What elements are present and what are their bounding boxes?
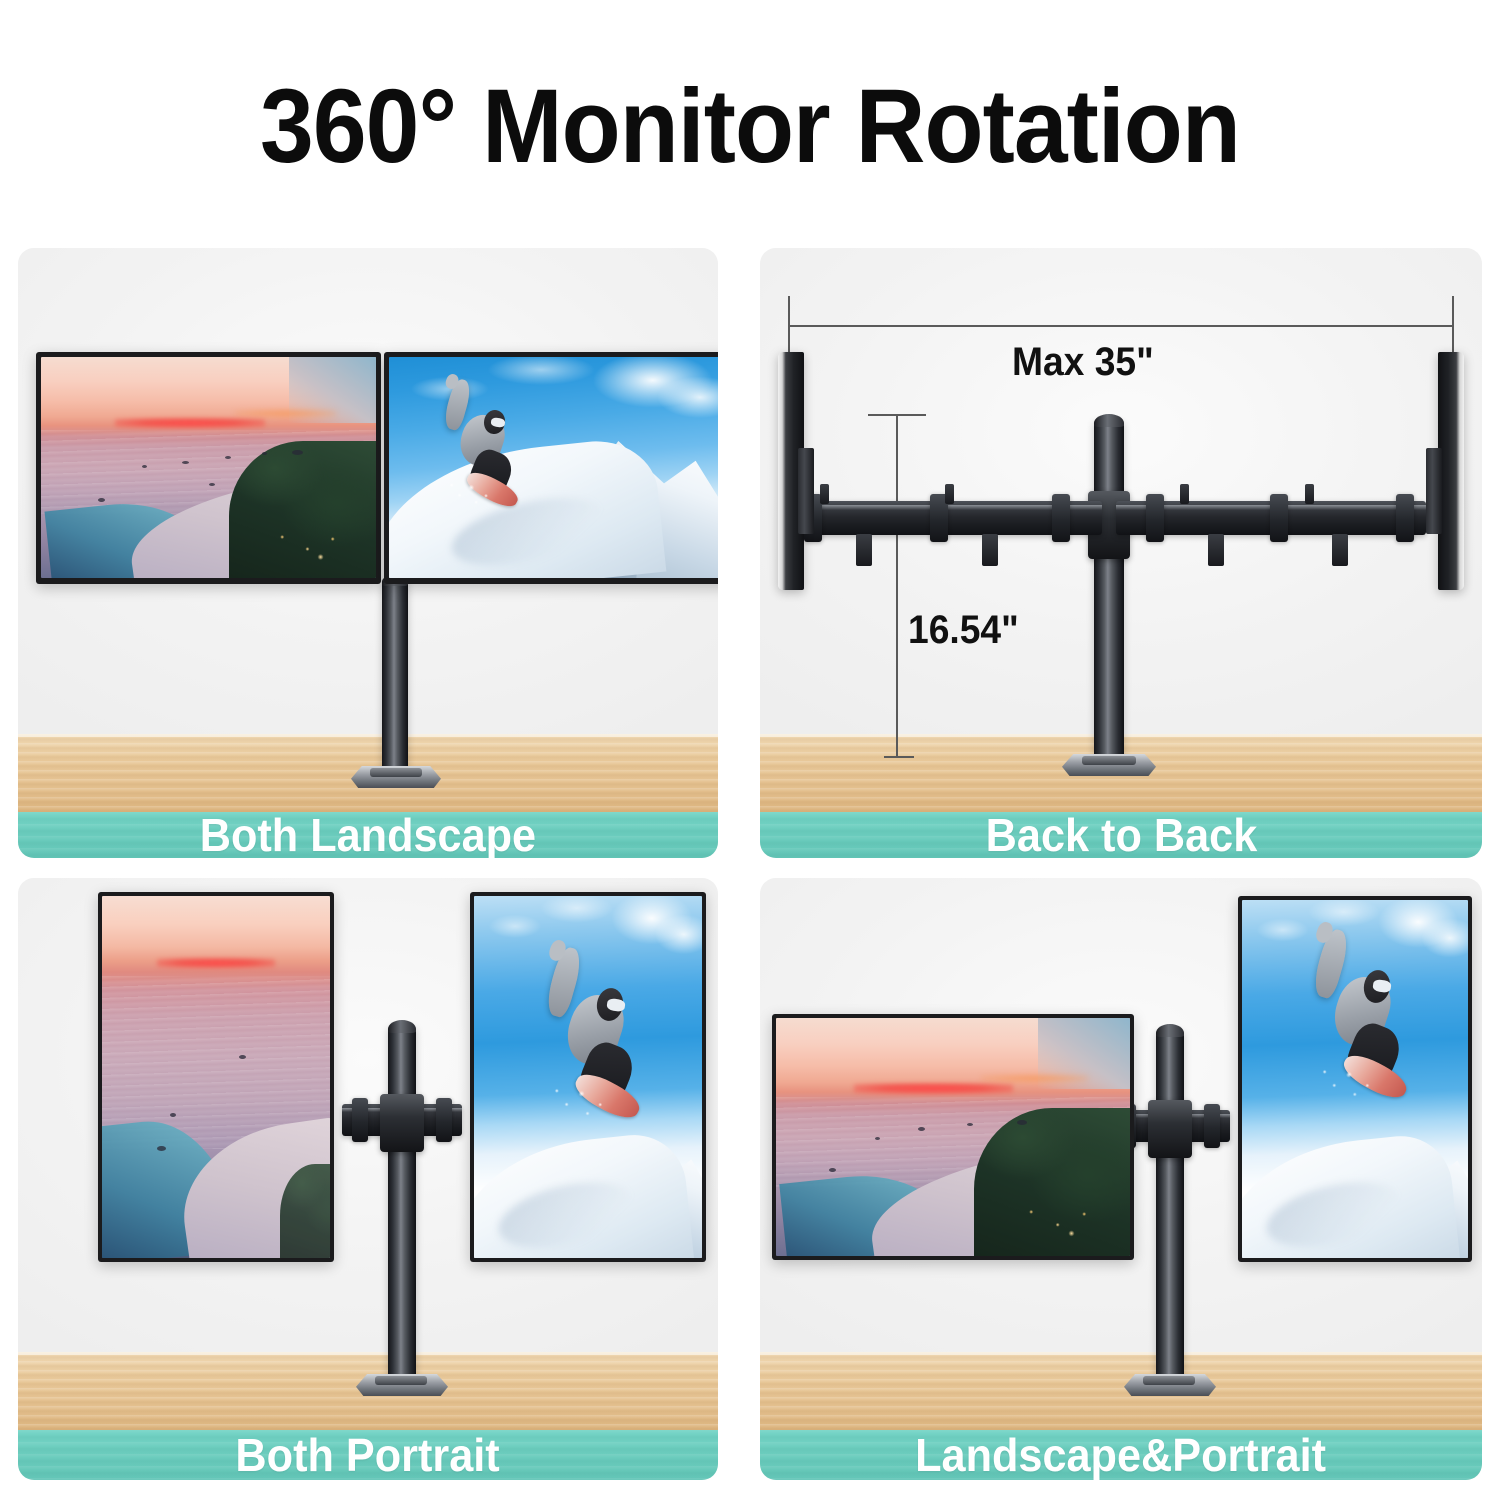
sunset-glow-secondary xyxy=(981,1075,1087,1082)
boat xyxy=(157,1146,166,1151)
scene-snowboarder xyxy=(1242,900,1468,1258)
scene-sunset-beach xyxy=(102,896,330,1258)
dimension-label-max-width: Max 35" xyxy=(1012,340,1154,385)
scene-snowboarder xyxy=(474,896,702,1258)
screen-snowboarder xyxy=(474,896,702,1258)
boat xyxy=(829,1168,836,1172)
page-title: 360° Monitor Rotation xyxy=(60,72,1440,182)
arm-joint-right xyxy=(1204,1104,1220,1148)
mount-base-inner xyxy=(1082,756,1136,765)
mount-pole-cap xyxy=(388,1020,416,1033)
desk-front-edge xyxy=(18,734,718,737)
shore-lights xyxy=(1010,1199,1116,1242)
dimension-line-horizontal xyxy=(788,325,1454,327)
snowboarder-rider xyxy=(1305,929,1423,1101)
arm-right-joint-outer xyxy=(1396,494,1414,542)
screen-snowboarder xyxy=(389,357,718,578)
mount-pole xyxy=(1094,420,1124,766)
arm-joint-right xyxy=(436,1098,452,1142)
arm-left-knob-b xyxy=(982,534,998,566)
panel-label-both-landscape: Both Landscape xyxy=(200,808,536,858)
boat xyxy=(209,483,215,486)
pole-collar xyxy=(380,1094,424,1152)
arm-joint-left xyxy=(352,1098,368,1142)
mount-base-inner xyxy=(370,768,422,777)
arm-left-pin-b xyxy=(945,484,954,504)
panel-label-back-to-back: Back to Back xyxy=(985,808,1257,858)
arm-right-knob-a xyxy=(1208,534,1224,566)
arm-right-joint-inner xyxy=(1146,494,1164,542)
caption-band-both-landscape: Both Landscape xyxy=(18,812,718,858)
panel-back-to-back: Max 35" 16.54" Back to Back xyxy=(760,248,1482,858)
vesa-plate-right xyxy=(1426,448,1442,534)
monitor-right-portrait xyxy=(470,892,706,1262)
boat xyxy=(182,461,189,464)
monitor-right-portrait xyxy=(1238,896,1472,1262)
sunset-glow-primary xyxy=(854,1083,1013,1094)
arm-right-joint-mid xyxy=(1270,494,1288,542)
screen-sunset-beach xyxy=(776,1018,1130,1256)
vesa-plate-left xyxy=(798,448,814,534)
mount-base-inner xyxy=(1143,1376,1195,1385)
screen-sunset-beach xyxy=(41,357,376,578)
boat xyxy=(292,450,303,455)
mount-pole xyxy=(1156,1030,1184,1386)
panel-label-landscape-portrait: Landscape&Portrait xyxy=(916,1428,1327,1480)
sunset-glow-primary xyxy=(115,418,266,428)
dimension-line-vertical xyxy=(896,414,898,758)
desk-surface xyxy=(760,1352,1482,1430)
monitor-left-portrait xyxy=(98,892,334,1262)
arm-left-pin-a xyxy=(820,484,829,504)
mount-pole xyxy=(382,578,408,778)
panel-landscape-portrait: Landscape&Portrait xyxy=(760,878,1482,1480)
dimension-label-pole-height: 16.54" xyxy=(908,608,1019,653)
mount-base-inner xyxy=(375,1376,427,1385)
monitor-right-landscape xyxy=(384,352,718,584)
screen-sunset-beach xyxy=(102,896,330,1258)
mount-pole xyxy=(388,1026,416,1386)
scene-sunset-beach xyxy=(776,1018,1130,1256)
mount-pole-cap xyxy=(1094,414,1124,427)
snowboarder-rider xyxy=(538,947,657,1121)
arm-left-joint-inner xyxy=(1052,494,1070,542)
desk-front-edge xyxy=(18,1352,718,1355)
panel-both-portrait: Both Portrait xyxy=(18,878,718,1480)
panel-both-landscape: Both Landscape xyxy=(18,248,718,858)
snowboarder-rider xyxy=(436,379,531,507)
arm-right-knob-b xyxy=(1332,534,1348,566)
dimension-tick-top xyxy=(868,414,926,416)
boat xyxy=(967,1123,973,1126)
pole-collar xyxy=(1148,1100,1192,1158)
panel-label-both-portrait: Both Portrait xyxy=(236,1428,500,1480)
arm-left-knob-a xyxy=(856,534,872,566)
monitor-left-landscape xyxy=(772,1014,1134,1260)
dimension-tick-bottom xyxy=(884,756,914,758)
mount-pole-cap xyxy=(1156,1024,1184,1037)
shore-lights xyxy=(262,525,363,565)
caption-band-back-to-back: Back to Back xyxy=(760,812,1482,858)
arm-right-pin-a xyxy=(1180,484,1189,504)
scene-sunset-beach xyxy=(41,357,376,578)
desk-front-edge xyxy=(760,1352,1482,1355)
monitor-left-landscape xyxy=(36,352,381,584)
sunset-glow-secondary xyxy=(235,410,336,417)
sunset-glow-primary xyxy=(157,958,276,969)
arm-right-pin-b xyxy=(1305,484,1314,504)
caption-band-both-portrait: Both Portrait xyxy=(18,1430,718,1480)
caption-band-landscape-portrait: Landscape&Portrait xyxy=(760,1430,1482,1480)
screen-snowboarder xyxy=(1242,900,1468,1258)
scene-snowboarder xyxy=(389,357,718,578)
